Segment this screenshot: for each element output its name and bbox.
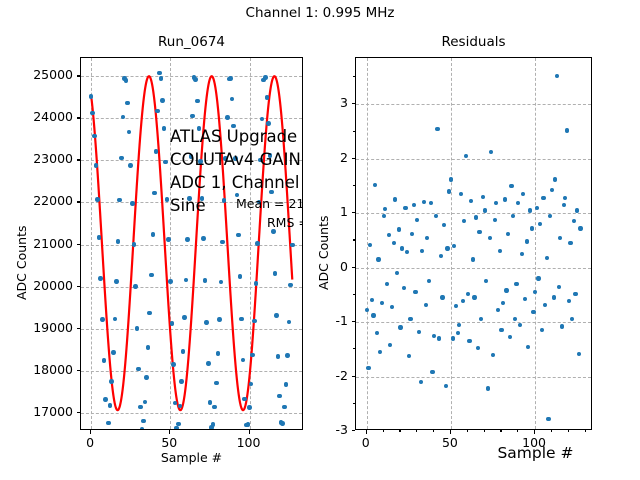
sine-data-points: [81, 58, 302, 429]
sine-data-point: [89, 94, 94, 99]
residual-data-point: [366, 366, 370, 370]
sine-data-point: [173, 401, 178, 406]
residual-data-point: [498, 249, 502, 253]
x-minor-tick-mark: [416, 430, 417, 432]
residual-data-point: [456, 331, 460, 335]
sine-data-point: [132, 242, 137, 247]
residual-data-point: [489, 150, 493, 154]
residual-data-point: [479, 317, 483, 321]
residual-data-point: [570, 317, 574, 321]
x-minor-tick-mark: [399, 430, 400, 432]
y-tick-mark: [352, 376, 356, 377]
y-tick-label: 22000: [16, 194, 73, 208]
sine-data-point: [178, 404, 183, 409]
y-tick-mark: [77, 159, 81, 160]
x-minor-tick-mark: [517, 430, 518, 432]
sine-data-point: [127, 130, 132, 135]
sine-data-point: [155, 109, 160, 114]
sine-data-point: [108, 403, 113, 408]
sine-data-point: [285, 353, 290, 358]
sine-data-point: [97, 235, 102, 240]
residual-data-point: [417, 330, 421, 334]
residual-data-point: [481, 195, 485, 199]
sine-data-point: [181, 349, 186, 354]
residual-data-point: [572, 219, 576, 223]
sine-data-point: [114, 279, 119, 284]
residual-data-point: [376, 257, 380, 261]
residual-data-point: [575, 208, 579, 212]
sine-data-point: [166, 237, 171, 242]
y-tick-mark: [77, 117, 81, 118]
sine-data-point: [247, 405, 252, 410]
residual-data-point: [434, 214, 438, 218]
x-minor-tick-mark: [433, 430, 434, 432]
residual-data-point: [437, 336, 441, 340]
sine-data-point: [151, 232, 156, 237]
sine-data-point: [113, 317, 118, 322]
sine-data-point: [106, 421, 111, 426]
y-minor-tick-mark: [353, 239, 355, 240]
residual-data-point: [474, 215, 478, 219]
residual-data-point: [459, 192, 463, 196]
sine-data-point: [265, 95, 270, 100]
residual-data-point: [393, 197, 397, 201]
sine-data-point: [133, 284, 138, 289]
residual-data-point: [390, 305, 394, 309]
y-tick-mark: [352, 430, 356, 431]
residual-data-point: [499, 328, 503, 332]
residual-data-point: [526, 345, 530, 349]
residual-data-point: [371, 313, 375, 317]
sine-data-point: [277, 394, 282, 399]
x-minor-tick-mark: [568, 430, 569, 432]
left-plot-ylabel: ADC Counts: [14, 225, 29, 300]
residual-data-point: [543, 303, 547, 307]
sine-data-point: [228, 76, 233, 81]
y-tick-mark: [77, 370, 81, 371]
residual-data-point: [375, 331, 379, 335]
residual-data-point: [398, 325, 402, 329]
residual-data-point: [550, 188, 554, 192]
residual-data-point: [548, 214, 552, 218]
sine-data-point: [238, 274, 243, 279]
residual-data-point: [402, 286, 406, 290]
residual-data-point: [504, 288, 508, 292]
residual-data-point: [565, 128, 569, 132]
residual-data-point: [483, 208, 487, 212]
sine-data-point: [179, 379, 184, 384]
y-tick-label: -1: [315, 314, 348, 328]
sine-data-point: [182, 315, 187, 320]
residual-data-point: [445, 246, 449, 250]
residual-data-point: [472, 295, 476, 299]
x-tick-mark: [366, 430, 367, 434]
residual-data-point: [387, 233, 391, 237]
sine-data-point: [130, 201, 135, 206]
residual-data-point: [493, 218, 497, 222]
left-plot-xlabel: Sample #: [80, 450, 303, 465]
sine-data-point: [211, 422, 216, 427]
residual-data-point: [530, 226, 534, 230]
x-tick-label: 100: [224, 436, 274, 450]
y-tick-mark: [352, 321, 356, 322]
sine-data-point: [241, 358, 246, 363]
residual-data-point: [397, 227, 401, 231]
y-minor-tick-mark: [353, 185, 355, 186]
residual-data-point: [513, 317, 517, 321]
sine-data-point: [254, 281, 259, 286]
residual-data-point: [535, 206, 539, 210]
residual-data-point: [545, 256, 549, 260]
sine-data-point: [138, 405, 143, 410]
y-tick-mark: [77, 328, 81, 329]
residual-data-point: [560, 324, 564, 328]
residual-data-point: [457, 323, 461, 327]
sine-data-point: [212, 405, 217, 410]
y-tick-mark: [352, 212, 356, 213]
residual-data-point: [462, 219, 466, 223]
x-tick-mark: [90, 430, 91, 434]
sine-data-point: [121, 115, 126, 120]
residual-data-point: [501, 301, 505, 305]
sine-data-point: [165, 197, 170, 202]
residual-data-point: [484, 279, 488, 283]
residual-data-point: [430, 370, 434, 374]
residual-data-point: [540, 328, 544, 332]
x-tick-mark: [169, 430, 170, 434]
residual-data-point: [538, 222, 542, 226]
figure-suptitle: Channel 1: 0.995 MHz: [0, 4, 640, 22]
residual-data-point: [573, 292, 577, 296]
sine-data-point: [193, 77, 198, 82]
residual-data-point: [380, 301, 384, 305]
residual-data-point: [444, 384, 448, 388]
sine-data-point: [146, 345, 151, 350]
sine-data-point: [111, 350, 116, 355]
y-minor-tick-mark: [353, 403, 355, 404]
residual-data-point: [420, 249, 424, 253]
sine-data-point: [157, 71, 162, 76]
residual-data-point: [552, 295, 556, 299]
sine-data-point: [102, 358, 107, 363]
sine-data-point: [143, 400, 148, 405]
y-tick-label: 17000: [16, 405, 73, 419]
left-plot-axes: ATLAS Upgrade COLUTAv4 GAIN ADC 1, Chann…: [80, 57, 303, 430]
residual-data-point: [514, 282, 518, 286]
residual-data-point: [516, 201, 520, 205]
sine-data-point: [128, 163, 133, 168]
x-minor-tick-mark: [383, 430, 384, 432]
sine-data-point: [287, 320, 292, 325]
residuals-data-points: [356, 58, 591, 429]
residual-data-point: [558, 236, 562, 240]
mean-statistic: Mean = 21030.933: [236, 196, 303, 211]
sine-data-point: [249, 382, 254, 387]
residual-data-point: [382, 214, 386, 218]
residual-data-point: [373, 183, 377, 187]
sine-data-point: [154, 149, 159, 154]
residual-data-point: [494, 201, 498, 205]
sine-data-point: [144, 375, 149, 380]
sine-data-point: [260, 117, 265, 122]
y-tick-mark: [77, 201, 81, 202]
residual-data-point: [533, 290, 537, 294]
residual-data-point: [440, 295, 444, 299]
sine-data-point: [185, 237, 190, 242]
sine-data-point: [116, 239, 121, 244]
sine-data-point: [280, 421, 285, 426]
residual-data-point: [413, 290, 417, 294]
sine-data-point: [201, 236, 206, 241]
residual-data-point: [546, 417, 550, 421]
residual-data-point: [578, 226, 582, 230]
residual-data-point: [496, 308, 500, 312]
y-tick-label: 18000: [16, 363, 73, 377]
y-tick-mark: [77, 412, 81, 413]
sine-data-point: [140, 427, 145, 430]
residual-data-point: [365, 308, 369, 312]
x-tick-mark: [249, 430, 250, 434]
residual-data-point: [488, 236, 492, 240]
sine-data-point: [159, 76, 164, 81]
sine-data-point: [94, 163, 99, 168]
residual-data-point: [449, 177, 453, 181]
residual-data-point: [555, 74, 559, 78]
sine-data-point: [214, 381, 219, 386]
residual-data-point: [370, 298, 374, 302]
sine-data-point: [203, 278, 208, 283]
residual-data-point: [432, 334, 436, 338]
sine-data-point: [119, 156, 124, 161]
y-tick-label: -2: [315, 369, 348, 383]
sine-data-point: [225, 115, 230, 120]
sine-data-point: [242, 397, 247, 402]
x-tick-label: 50: [144, 436, 194, 450]
residual-data-point: [388, 343, 392, 347]
sine-data-point: [206, 361, 211, 366]
residual-data-point: [568, 241, 572, 245]
residual-data-point: [508, 335, 512, 339]
residual-data-point: [412, 203, 416, 207]
residual-data-point: [557, 285, 561, 289]
y-tick-label: 23000: [16, 152, 73, 166]
residual-data-point: [427, 279, 431, 283]
residual-data-point: [395, 271, 399, 275]
y-tick-label: 25000: [16, 68, 73, 82]
residual-data-point: [491, 353, 495, 357]
residual-data-point: [435, 127, 439, 131]
sine-data-point: [246, 422, 251, 427]
residual-data-point: [525, 239, 529, 243]
residuals-plot-axes: [355, 57, 592, 430]
residual-data-point: [469, 199, 473, 203]
residual-data-point: [461, 299, 465, 303]
residual-data-point: [509, 184, 513, 188]
sine-data-point: [220, 240, 225, 245]
y-tick-label: 2: [315, 151, 348, 165]
sine-data-point: [282, 405, 287, 410]
sine-data-point: [176, 422, 181, 427]
residual-data-point: [385, 282, 389, 286]
x-tick-mark: [534, 430, 535, 434]
sine-data-point: [147, 311, 152, 316]
sine-data-point: [217, 317, 222, 322]
residual-data-point: [486, 386, 490, 390]
sine-data-point: [255, 241, 260, 246]
residual-data-point: [368, 243, 372, 247]
x-minor-tick-mark: [551, 430, 552, 432]
y-tick-mark: [77, 244, 81, 245]
sine-data-point: [273, 271, 278, 276]
y-tick-mark: [77, 75, 81, 76]
sine-data-point: [152, 191, 157, 196]
residual-data-point: [466, 292, 470, 296]
residual-data-point: [405, 250, 409, 254]
residual-data-point: [528, 208, 532, 212]
sine-data-point: [124, 78, 129, 83]
x-tick-mark: [450, 430, 451, 434]
residual-data-point: [553, 177, 557, 181]
sine-data-point: [103, 397, 108, 402]
y-tick-label: 3: [315, 96, 348, 110]
residuals-plot-ylabel: ADC Counts: [316, 215, 331, 290]
sine-data-point: [288, 283, 293, 288]
residual-data-point: [567, 299, 571, 303]
residual-data-point: [523, 297, 527, 301]
y-tick-label: -3: [315, 423, 348, 437]
x-minor-tick-mark: [500, 430, 501, 432]
residual-data-point: [520, 252, 524, 256]
y-tick-mark: [352, 103, 356, 104]
residual-data-point: [506, 232, 510, 236]
residual-data-point: [392, 241, 396, 245]
sine-data-point: [230, 97, 235, 102]
residual-data-point: [536, 276, 540, 280]
residual-data-point: [563, 196, 567, 200]
sine-data-point: [290, 243, 295, 248]
sine-data-point: [95, 197, 100, 202]
residual-data-point: [471, 257, 475, 261]
sine-data-point: [171, 362, 176, 367]
residual-data-point: [451, 336, 455, 340]
sine-data-point: [168, 279, 173, 284]
residual-data-point: [425, 236, 429, 240]
sine-data-point: [117, 198, 122, 203]
residual-data-point: [562, 203, 566, 207]
sine-data-point: [109, 379, 114, 384]
residual-data-point: [378, 350, 382, 354]
sine-data-point: [184, 278, 189, 283]
residual-data-point: [424, 303, 428, 307]
residual-data-point: [521, 192, 525, 196]
sine-data-point: [204, 320, 209, 325]
residual-data-point: [477, 230, 481, 234]
residual-data-point: [467, 339, 471, 343]
x-tick-label: 0: [341, 436, 391, 450]
y-tick-mark: [352, 267, 356, 268]
sine-data-point: [252, 319, 257, 324]
sine-data-point: [98, 276, 103, 281]
sine-data-point: [149, 273, 154, 278]
x-tick-label: 0: [65, 436, 115, 450]
residual-data-point: [408, 317, 412, 321]
sine-data-point: [141, 419, 146, 424]
residual-data-point: [577, 352, 581, 356]
residual-data-point: [422, 200, 426, 204]
y-tick-label: 24000: [16, 110, 73, 124]
sine-data-point: [162, 126, 167, 131]
residual-data-point: [503, 197, 507, 201]
residual-data-point: [419, 380, 423, 384]
right-panel-title: Residuals: [355, 33, 592, 51]
sine-data-point: [250, 353, 255, 358]
sine-data-point: [276, 354, 281, 359]
residual-data-point: [454, 304, 458, 308]
residual-data-point: [415, 218, 419, 222]
residual-data-point: [476, 346, 480, 350]
rms-statistic: RMS = 2772.41: [267, 215, 303, 230]
residual-data-point: [442, 223, 446, 227]
y-minor-tick-mark: [353, 294, 355, 295]
residual-data-point: [383, 207, 387, 211]
sine-data-point: [125, 101, 130, 106]
residual-data-point: [531, 310, 535, 314]
residuals-plot-xlabel: Sample #: [463, 446, 608, 461]
y-minor-tick-mark: [353, 131, 355, 132]
matplotlib-figure: Channel 1: 0.995 MHz Run_0674 ATLAS Upgr…: [0, 0, 640, 480]
residual-data-point: [464, 154, 468, 158]
y-tick-label: 19000: [16, 321, 73, 335]
sine-data-point: [174, 426, 179, 430]
y-tick-mark: [77, 286, 81, 287]
sine-data-point: [160, 98, 165, 103]
residual-data-point: [410, 232, 414, 236]
residual-data-point: [403, 206, 407, 210]
sine-data-point: [263, 75, 268, 80]
residual-data-point: [511, 214, 515, 218]
x-minor-tick-mark: [484, 430, 485, 432]
y-minor-tick-mark: [353, 348, 355, 349]
sine-data-point: [135, 326, 140, 331]
sine-data-point: [90, 111, 95, 116]
residual-data-point: [429, 201, 433, 205]
sine-data-point: [208, 400, 213, 405]
residual-data-point: [407, 354, 411, 358]
sine-data-point: [195, 99, 200, 104]
x-minor-tick-mark: [585, 430, 586, 432]
sine-data-point: [170, 321, 175, 326]
sine-data-point: [274, 313, 279, 318]
sine-data-point: [136, 367, 141, 372]
sine-data-point: [163, 160, 168, 165]
residual-data-point: [439, 254, 443, 258]
x-minor-tick-mark: [467, 430, 468, 432]
y-minor-tick-mark: [353, 76, 355, 77]
left-panel-title: Run_0674: [80, 33, 303, 51]
residual-data-point: [452, 244, 456, 248]
residual-data-point: [518, 323, 522, 327]
sine-data-point: [284, 382, 289, 387]
sine-data-point: [190, 114, 195, 119]
residual-data-point: [400, 246, 404, 250]
sine-data-point: [92, 134, 97, 139]
sine-data-point: [100, 317, 105, 322]
sine-data-point: [219, 280, 224, 285]
sine-data-point: [239, 317, 244, 322]
sine-data-point: [216, 351, 221, 356]
y-tick-mark: [352, 158, 356, 159]
residual-data-point: [541, 196, 545, 200]
